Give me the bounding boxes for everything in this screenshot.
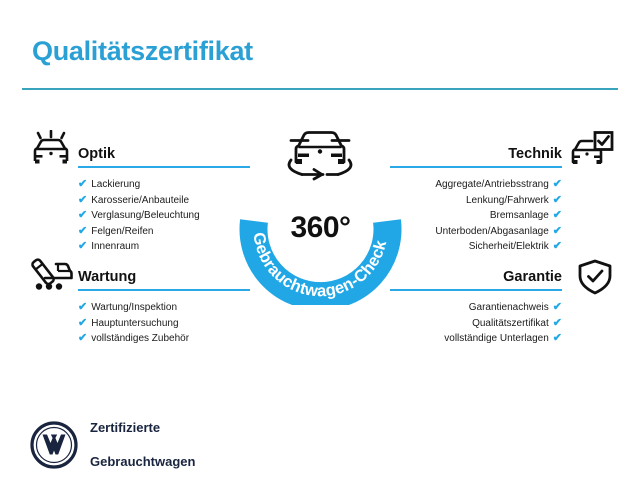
list-item: Unterboden/Abgasanlage✔ <box>390 224 562 240</box>
car-wrench-service-icon <box>28 255 74 293</box>
list-item: vollständige Unterlagen✔ <box>390 331 562 347</box>
check-icon: ✔ <box>78 332 87 344</box>
section-divider-garantie <box>390 289 562 291</box>
list-item: ✔Verglasung/Beleuchtung <box>78 208 250 224</box>
list-item-label: Qualitätszertifikat <box>472 318 549 329</box>
checklist-optik: ✔Lackierung ✔Karosserie/Anbauteile ✔Verg… <box>78 177 250 255</box>
car-rotation-360-icon <box>278 122 362 184</box>
list-item: Bremsanlage✔ <box>390 208 562 224</box>
list-item: Aggregate/Antriebsstrang✔ <box>390 177 562 193</box>
list-item-label: vollständige Unterlagen <box>444 333 549 344</box>
check-icon: ✔ <box>78 209 87 221</box>
check-icon: ✔ <box>553 225 562 237</box>
section-heading-wartung: Wartung <box>78 268 250 289</box>
badge-center-label: 360° <box>228 211 413 245</box>
check-icon: ✔ <box>553 209 562 221</box>
list-item-label: Wartung/Inspektion <box>91 302 177 313</box>
car-shine-icon <box>28 130 74 168</box>
check-icon: ✔ <box>78 225 87 237</box>
checklist-technik: Aggregate/Antriebsstrang✔ Lenkung/Fahrwe… <box>390 177 562 255</box>
list-item-label: Lenkung/Fahrwerk <box>466 195 549 206</box>
check-icon: ✔ <box>553 240 562 252</box>
check-icon: ✔ <box>78 240 87 252</box>
section-divider-optik <box>78 166 250 168</box>
footer-label: Zertifizierte Gebrauchtwagen <box>90 402 195 487</box>
section-heading-technik: Technik <box>390 145 562 166</box>
list-item-label: Karosserie/Anbauteile <box>91 195 189 206</box>
list-item-label: Unterboden/Abgasanlage <box>435 226 548 237</box>
list-item: ✔Hauptuntersuchung <box>78 316 250 332</box>
check-icon: ✔ <box>553 178 562 190</box>
section-optik: Optik ✔Lackierung ✔Karosserie/Anbauteile… <box>78 145 250 255</box>
list-item: Lenkung/Fahrwerk✔ <box>390 193 562 209</box>
check-icon: ✔ <box>553 317 562 329</box>
car-checkbox-icon <box>568 130 614 168</box>
section-heading-optik: Optik <box>78 145 250 166</box>
list-item: ✔vollständiges Zubehör <box>78 331 250 347</box>
check-icon: ✔ <box>553 301 562 313</box>
list-item-label: Verglasung/Beleuchtung <box>91 210 199 221</box>
check-icon: ✔ <box>78 194 87 206</box>
checklist-garantie: Garantienachweis✔ Qualitätszertifikat✔ v… <box>390 300 562 347</box>
list-item-label: Felgen/Reifen <box>91 226 153 237</box>
section-technik: Technik Aggregate/Antriebsstrang✔ Lenkun… <box>390 145 562 255</box>
footer-line-1: Zertifizierte <box>90 419 195 436</box>
list-item: Garantienachweis✔ <box>390 300 562 316</box>
list-item-label: Bremsanlage <box>490 210 549 221</box>
check-icon: ✔ <box>78 178 87 190</box>
list-item: ✔Felgen/Reifen <box>78 224 250 240</box>
check-icon: ✔ <box>78 301 87 313</box>
section-wartung: Wartung ✔Wartung/Inspektion ✔Hauptunters… <box>78 268 250 347</box>
checklist-wartung: ✔Wartung/Inspektion ✔Hauptuntersuchung ✔… <box>78 300 250 347</box>
title-divider <box>22 88 618 90</box>
section-divider-wartung <box>78 289 250 291</box>
list-item-label: Aggregate/Antriebsstrang <box>435 179 548 190</box>
footer-brand: Zertifizierte Gebrauchtwagen <box>30 402 195 487</box>
list-item-label: Garantienachweis <box>469 302 549 313</box>
volkswagen-logo <box>30 421 78 469</box>
list-item-label: Innenraum <box>91 241 139 252</box>
list-item: Sicherheit/Elektrik✔ <box>390 239 562 255</box>
check-icon: ✔ <box>553 332 562 344</box>
list-item: ✔Innenraum <box>78 239 250 255</box>
check-icon: ✔ <box>553 194 562 206</box>
check-icon: ✔ <box>78 317 87 329</box>
list-item: ✔Wartung/Inspektion <box>78 300 250 316</box>
section-heading-garantie: Garantie <box>390 268 562 289</box>
list-item: ✔Karosserie/Anbauteile <box>78 193 250 209</box>
section-divider-technik <box>390 166 562 168</box>
shield-check-icon <box>572 258 618 296</box>
list-item: ✔Lackierung <box>78 177 250 193</box>
quality-certificate-page: Qualitätszertifikat <box>0 0 640 480</box>
list-item: Qualitätszertifikat✔ <box>390 316 562 332</box>
list-item-label: Lackierung <box>91 179 140 190</box>
section-garantie: Garantie Garantienachweis✔ Qualitätszert… <box>390 268 562 347</box>
list-item-label: Sicherheit/Elektrik <box>469 241 549 252</box>
list-item-label: vollständiges Zubehör <box>91 333 189 344</box>
page-title: Qualitätszertifikat <box>32 36 253 67</box>
list-item-label: Hauptuntersuchung <box>91 318 178 329</box>
footer-line-2: Gebrauchtwagen <box>90 453 195 470</box>
